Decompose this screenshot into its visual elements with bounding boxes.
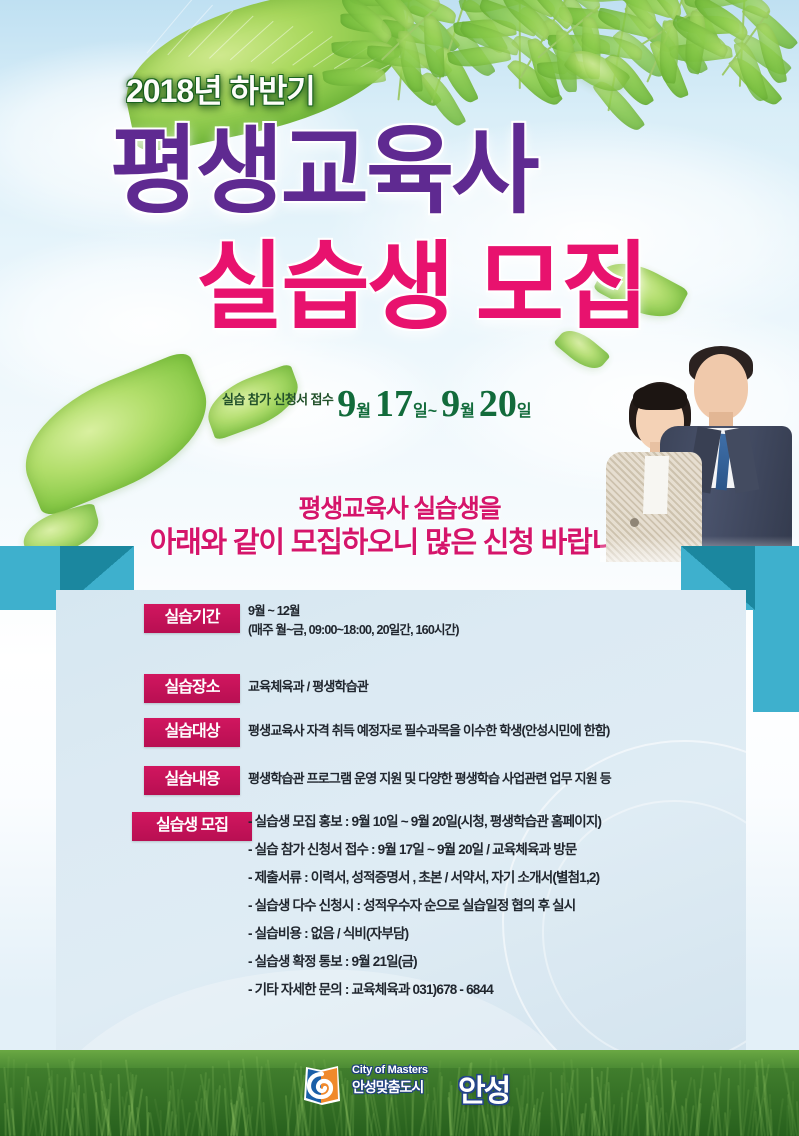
logo-city-name: 안성 (458, 1066, 509, 1110)
detail-line: 교육체육과 / 평생학습관 (248, 676, 368, 695)
detail-row-body: 평생교육사 자격 취득 예정자로 필수과목을 이수한 학생(안성시민에 한함) (248, 720, 610, 739)
detail-line: - 실습 참가 신청서 접수 : 9월 17일 ~ 9월 20일 / 교육체육과… (248, 836, 601, 864)
apply-to-month-unit: 월 (460, 403, 475, 420)
leaf-vein (271, 31, 313, 64)
detail-row-label: 실습내용 (144, 766, 240, 795)
detail-line: - 제출서류 : 이력서, 성적증명서 , 초본 / 서약서, 자기 소개서(별… (248, 864, 601, 892)
logo-tagline-en: City of Masters (352, 1064, 428, 1076)
detail-line: (매주 월~금, 09:00~18:00, 20일간, 160시간) (248, 621, 459, 640)
grass-blade (786, 1105, 789, 1136)
detail-line: 9월 ~ 12월 (248, 602, 459, 621)
anseong-city-logo: City of Masters 안성맞춤도시 안성 (300, 1062, 510, 1110)
detail-row-body: 9월 ~ 12월 (매주 월~금, 09:00~18:00, 20일간, 160… (248, 602, 459, 641)
leaf-vein (251, 26, 294, 62)
apply-to-day-unit: 일 (517, 403, 532, 420)
apply-range-separator: ~ (428, 403, 437, 420)
detail-row-label: 실습대상 (144, 718, 240, 747)
apply-from-day-unit: 일 (413, 403, 428, 420)
application-period-label: 실습 참가 신청서 접수 (222, 392, 333, 407)
detail-row-label: 실습생 모집 (132, 812, 252, 841)
details-panel: 실습기간 9월 ~ 12월 (매주 월~금, 09:00~18:00, 20일간… (56, 590, 746, 1050)
leaf-vein (209, 16, 254, 59)
grass-blade (777, 1098, 784, 1136)
anseong-emblem-icon (300, 1063, 344, 1107)
detail-line: - 실습비용 : 없음 / 식비(자부담) (248, 920, 601, 948)
leaf-vein (188, 10, 233, 57)
logo-tagline-kr: 안성맞춤도시 (352, 1077, 428, 1097)
grass-blade (149, 1112, 155, 1136)
poster-title-line2: 실습생 모집 (196, 240, 646, 336)
grass-blade (508, 1106, 510, 1136)
grass-blade (136, 1107, 141, 1136)
detail-row-body: 교육체육과 / 평생학습관 (248, 676, 368, 695)
detail-line: - 실습생 확정 통보 : 9월 21일(금) (248, 948, 601, 976)
poster-root: 2018년 하반기 평생교육사 실습생 모집 실습 참가 신청서 접수9월17일… (0, 0, 799, 1136)
woman-jacket-button (630, 518, 639, 527)
apply-to-month: 9 (441, 383, 460, 425)
detail-line: 평생교육사 자격 취득 예정자로 필수과목을 이수한 학생(안성시민에 한함) (248, 720, 610, 739)
apply-from-month-unit: 월 (356, 403, 371, 420)
leaf-vein (230, 21, 274, 61)
detail-line: 평생학습관 프로그램 운영 지원 및 다양한 평생학습 사업관련 업무 지원 등 (248, 768, 611, 787)
year-subtitle: 2018년 하반기 (126, 66, 315, 112)
detail-line: - 실습생 모집 홍보 : 9월 10일 ~ 9월 20일(시청, 평생학습관 … (248, 808, 601, 836)
detail-row-body: 평생학습관 프로그램 운영 지원 및 다양한 평생학습 사업관련 업무 지원 등 (248, 768, 611, 787)
poster-title-line1: 평생교육사 (110, 124, 537, 220)
detail-line: - 기타 자세한 문의 : 교육체육과 031)678 - 6844 (248, 976, 601, 1004)
application-period-line: 실습 참가 신청서 접수9월17일~9월20일 (222, 382, 532, 426)
apply-to-day: 20 (479, 383, 517, 425)
grass-blade (689, 1105, 695, 1136)
woman-hair-front (633, 384, 687, 410)
woman-blouse (643, 456, 669, 514)
detail-row-body: - 실습생 모집 홍보 : 9월 10일 ~ 9월 20일(시청, 평생학습관 … (248, 808, 601, 1005)
man-head (694, 354, 748, 420)
apply-from-month: 9 (337, 383, 356, 425)
detail-row-label: 실습장소 (144, 674, 240, 703)
grass-blade (262, 1102, 266, 1136)
leaf-vein (147, 0, 193, 54)
detail-line: - 실습생 다수 신청시 : 성적우수자 순으로 실습일정 협의 후 실시 (248, 892, 601, 920)
logo-wordmark: City of Masters 안성맞춤도시 (352, 1064, 428, 1097)
grass-blade (646, 1102, 648, 1136)
leaf-vein (167, 5, 213, 55)
apply-from-day: 17 (375, 383, 413, 425)
grass-blade (159, 1110, 161, 1136)
detail-row-label: 실습기간 (144, 604, 240, 633)
people-photo (600, 330, 799, 562)
